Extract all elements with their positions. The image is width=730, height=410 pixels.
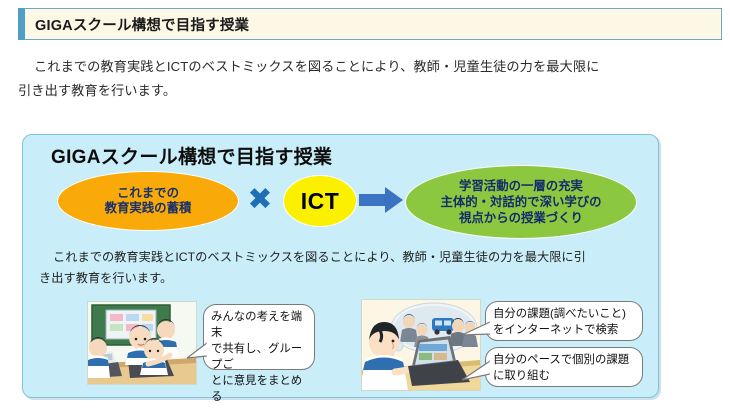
ellipse-past-practice-line-1: これまでの bbox=[117, 186, 179, 200]
bubble-tail-icon bbox=[462, 358, 490, 384]
ellipse-learning-outcome: 学習活動の一層の充実 主体的・対話的で深い学びの 視点からの授業づくり bbox=[405, 165, 637, 239]
bubble-tail-icon bbox=[187, 341, 207, 363]
page-title: GIGAスクール構想で目指す授業 bbox=[25, 14, 249, 35]
infographic-body-text: これまでの教育実践とICTのベストミックスを図ることにより、教師・児童生徒の力を… bbox=[39, 247, 647, 290]
ellipse-learning-outcome-line-3: 視点からの授業づくり bbox=[459, 211, 583, 225]
bubble-group-work-line-3: とに意見をまとめる bbox=[211, 375, 302, 403]
ellipse-ict: ICT bbox=[283, 175, 357, 227]
bubble-group-work-line-2: で共有し、グループご bbox=[211, 343, 302, 371]
photo-classroom-group bbox=[87, 301, 197, 385]
bubble-internet-search-line-2: をインターネットで検索 bbox=[493, 324, 618, 336]
ellipse-learning-outcome-line-2: 主体的・対話的で深い学びの bbox=[440, 195, 601, 209]
intro-paragraph: これまでの教育実践とICTのベストミックスを図ることにより、教師・児童生徒の力を… bbox=[18, 55, 718, 104]
heading-box: GIGAスクール構想で目指す授業 bbox=[25, 8, 722, 40]
heading-accent-bar bbox=[18, 8, 25, 40]
ellipse-past-practice-line-2: 教育実践の蓄積 bbox=[105, 201, 192, 215]
bubble-own-pace-line-1: 自分のペースで個別の課題 bbox=[493, 354, 629, 366]
bubble-own-pace-line-2: に取り組む bbox=[493, 370, 550, 382]
bubble-tail-icon bbox=[462, 320, 490, 342]
ellipse-ict-label: ICT bbox=[301, 188, 340, 215]
bubble-own-pace: 自分のペースで個別の課題 に取り組む bbox=[485, 347, 643, 387]
examples-row: みんなの考えを端末 で共有し、グループご とに意見をまとめる bbox=[23, 299, 658, 393]
bubble-group-work: みんなの考えを端末 で共有し、グループご とに意見をまとめる bbox=[203, 304, 315, 370]
bubble-internet-search: 自分の課題(調べたいこと) をインターネットで検索 bbox=[485, 301, 643, 341]
ellipse-learning-outcome-line-1: 学習活動の一層の充実 bbox=[459, 179, 583, 193]
intro-line-1: これまでの教育実践とICTのベストミックスを図ることにより、教師・児童生徒の力を… bbox=[18, 55, 718, 79]
infographic-body-line-2: き出す教育を行います。 bbox=[39, 268, 647, 289]
infographic-body-line-1: これまでの教育実践とICTのベストミックスを図ることにより、教師・児童生徒の力を… bbox=[39, 247, 647, 268]
infographic-title: GIGAスクール構想で目指す授業 bbox=[51, 142, 332, 169]
intro-line-2: 引き出す教育を行います。 bbox=[18, 79, 718, 103]
section-heading: GIGAスクール構想で目指す授業 bbox=[18, 8, 722, 40]
bubble-internet-search-line-1: 自分の課題(調べたいこと) bbox=[493, 308, 626, 320]
multiply-icon: ✖ bbox=[245, 185, 275, 215]
bubble-group-work-line-1: みんなの考えを端末 bbox=[211, 311, 302, 339]
concept-flow-row: これまでの 教育実践の蓄積 ✖ ICT 学習活動の一層の充実 主体的・対話的で深… bbox=[23, 171, 658, 233]
right-arrow-icon bbox=[359, 187, 403, 213]
ellipse-past-practice: これまでの 教育実践の蓄積 bbox=[57, 171, 239, 231]
infographic-panel: GIGAスクール構想で目指す授業 これまでの 教育実践の蓄積 ✖ ICT 学習活… bbox=[22, 134, 659, 398]
